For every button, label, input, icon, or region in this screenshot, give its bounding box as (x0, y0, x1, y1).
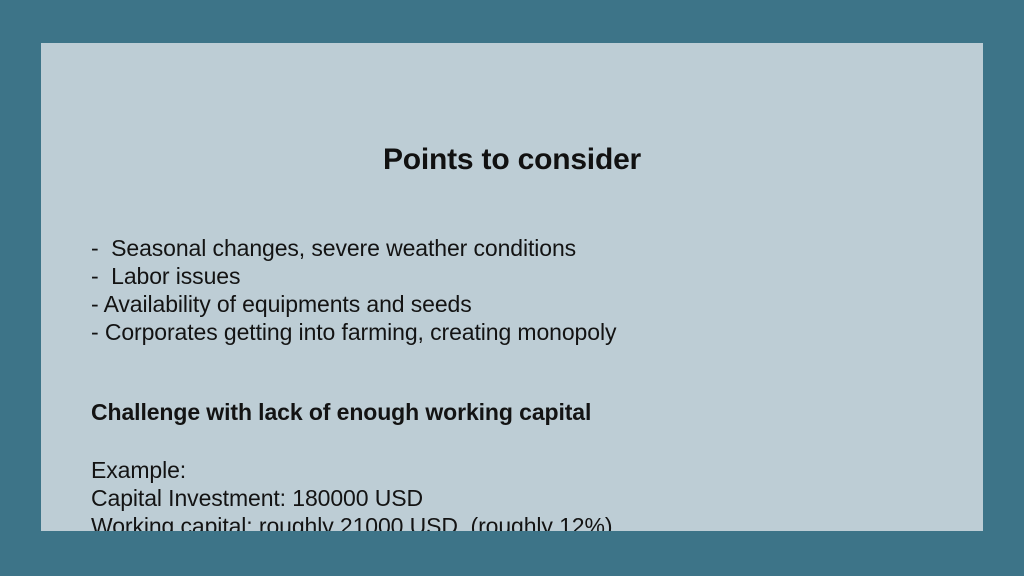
slide-canvas: Points to consider - Seasonal changes, s… (0, 0, 1024, 576)
example-label: Example: (91, 456, 951, 484)
bullet-item-corporates-monopoly: - Corporates getting into farming, creat… (91, 318, 951, 346)
bullet-item-labor-issues: - Labor issues (91, 262, 951, 290)
body-spacer-after-bullets (91, 346, 951, 398)
bullet-item-availability-equipments-seeds: - Availability of equipments and seeds (91, 290, 951, 318)
slide-body: - Seasonal changes, severe weather condi… (91, 234, 951, 531)
slide-content-panel: Points to consider - Seasonal changes, s… (41, 43, 983, 531)
bullet-item-seasonal-changes: - Seasonal changes, severe weather condi… (91, 234, 951, 262)
body-spacer-after-challenge (91, 426, 951, 456)
example-working-capital: Working capital: roughly 21000 USD (roug… (91, 512, 951, 531)
challenge-heading: Challenge with lack of enough working ca… (91, 398, 951, 426)
example-capital-investment: Capital Investment: 180000 USD (91, 484, 951, 512)
page-title: Points to consider (41, 142, 983, 178)
